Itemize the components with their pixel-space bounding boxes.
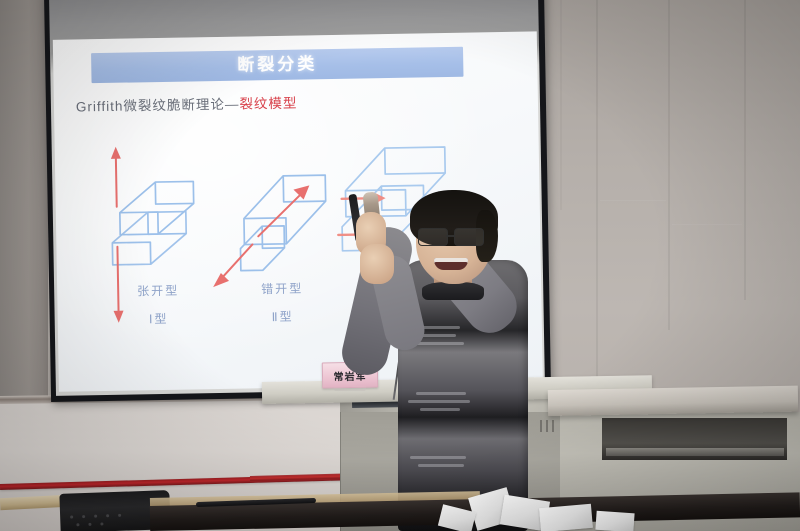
glasses-icon xyxy=(418,228,488,244)
lecture-hall-photo: 断裂分类 Griffith微裂纹脆断理论—裂纹模型 xyxy=(0,0,800,531)
wall-panel-line xyxy=(672,224,742,225)
slide-subtitle-accent: 裂纹模型 xyxy=(239,96,297,112)
glasses-left-lens xyxy=(418,228,448,246)
paper-sheet[interactable] xyxy=(595,511,634,531)
glasses-bridge xyxy=(446,235,454,237)
podium-drawer-rail xyxy=(606,448,784,456)
presenter xyxy=(330,170,580,531)
glasses-right-lens xyxy=(454,228,484,246)
podium-side-shelf xyxy=(548,386,798,416)
paper-sheet[interactable] xyxy=(539,504,593,531)
wall-panel-line xyxy=(600,200,666,201)
slide-subtitle: Griffith微裂纹脆断理论—裂纹模型 xyxy=(76,92,298,116)
wall-seam xyxy=(744,0,746,300)
slide-subtitle-main: Griffith微裂纹脆断理论— xyxy=(76,97,240,115)
presenter-lower-hand xyxy=(360,244,394,284)
presenter-collar xyxy=(422,282,484,300)
presenter-mouth xyxy=(434,258,468,270)
wall-seam xyxy=(596,0,598,400)
wall-seam xyxy=(668,0,670,330)
